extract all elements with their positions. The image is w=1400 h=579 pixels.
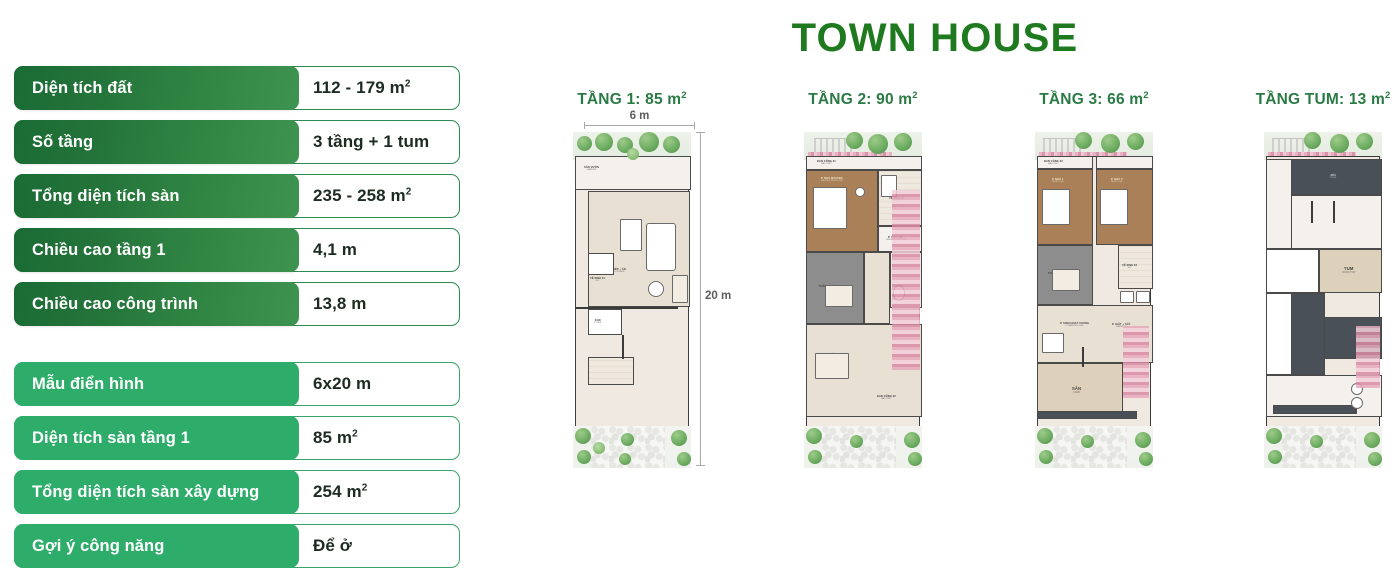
building-footprint: MÁIROOF TUMROOFTOP <box>1266 156 1380 442</box>
floor-plan-2: BAN CÔNG 01BALCONY P. NGỦ MASTERMASTER B… <box>800 130 926 468</box>
spec-label-pill: Tổng diện tích sàn <box>14 174 299 218</box>
spec-value: 13,8 m <box>313 294 367 314</box>
spec-label-pill: Chiều cao công trình <box>14 282 299 326</box>
spec-row: 3 tầng + 1 tum Số tầng <box>14 120 460 164</box>
spec-label: Diện tích sàn tầng 1 <box>32 429 190 448</box>
seating <box>1052 269 1080 291</box>
wall-segment <box>1082 347 1084 367</box>
tree-icon <box>868 134 888 154</box>
wall-segment <box>1333 201 1335 223</box>
wall-segment <box>576 307 678 309</box>
spec-row: 13,8 m Chiều cao công trình <box>14 282 460 326</box>
coffee-table <box>648 281 664 297</box>
sofa <box>815 353 849 379</box>
dimension-cap-left <box>584 121 585 129</box>
tree-icon <box>904 432 920 448</box>
spec-label: Gợi ý công năng <box>32 537 164 556</box>
room-label: TUMROOFTOP <box>1342 266 1355 274</box>
tree-icon <box>1356 133 1373 150</box>
roof-slab-top: MÁIROOF <box>1291 159 1382 195</box>
room-balcony-3b <box>1096 156 1153 169</box>
tree-icon <box>806 428 822 444</box>
tree-icon <box>894 133 912 151</box>
dimension-width-label: 6 m <box>584 110 695 122</box>
room-label: BAN CÔNG 01BALCONY <box>817 160 836 166</box>
spec-row: 6x20 m Mẫu điển hình <box>14 362 460 406</box>
open-terrace <box>1291 195 1382 249</box>
spec-value: 4,1 m <box>313 240 357 260</box>
spec-row: Để ở Gợi ý công năng <box>14 524 460 568</box>
unit-superscript: 2 <box>1385 90 1390 101</box>
dimension-line <box>584 125 695 126</box>
dining-table <box>646 223 676 271</box>
spec-label: Chiều cao công trình <box>32 295 198 314</box>
spec-value: 3 tầng + 1 tum <box>313 132 429 152</box>
room-balcony-3a: BAN CÔNG 03BALCONY <box>1037 156 1093 169</box>
unit-superscript: 2 <box>681 90 686 101</box>
dimension-cap-top <box>696 132 705 133</box>
stairs <box>864 252 890 324</box>
floor-plans-area: TOWN HOUSE TẦNG 1: 85 m2 6 m 20 m <box>470 0 1400 579</box>
room-wc-03: VỆ SINH 03WC <box>1118 245 1153 289</box>
side-table <box>855 187 865 197</box>
sofa <box>1042 333 1064 353</box>
room-yard: SÂNYARD <box>1037 363 1123 417</box>
spec-value: 235 - 258 m2 <box>313 186 411 206</box>
room-label: SÂN VƯỜNGARDEN <box>584 166 599 172</box>
roof-slab-mid <box>1291 293 1325 375</box>
room-label: P. NGỦ 2BEDROOM <box>1111 178 1123 184</box>
dimension-cap-bottom <box>696 465 705 466</box>
spec-value: 112 - 179 m2 <box>313 78 411 98</box>
flower-band <box>1123 326 1149 398</box>
tree-icon <box>850 435 863 448</box>
spec-label: Chiều cao tầng 1 <box>32 241 166 260</box>
basin <box>1120 291 1134 303</box>
unit-superscript: 2 <box>1143 90 1148 101</box>
spec-group-typical-unit: 6x20 m Mẫu điển hình 85 m2 Diện tích sàn… <box>14 362 460 568</box>
tree-icon <box>1135 432 1151 448</box>
unit-superscript: 2 <box>405 78 411 89</box>
tree-icon <box>1330 134 1349 153</box>
floor-plan-column-3: TẦNG 3: 66 m2 BAN CÔNG 03BALCONY <box>978 90 1210 468</box>
bed <box>1100 189 1128 225</box>
shrub-icon <box>593 442 605 454</box>
wall-segment <box>622 335 624 359</box>
floor-plan-artwork: BAN CÔNG 01BALCONY P. NGỦ MASTERMASTER B… <box>800 130 926 468</box>
spec-label: Tổng diện tích sàn xây dựng <box>32 483 259 502</box>
floor-plan-artwork: BAN CÔNG 03BALCONY P. NGỦ 1BEDROOM P. NG… <box>1031 130 1157 468</box>
room-label: SÂNYARD <box>1072 386 1081 394</box>
spec-label-pill: Gợi ý công năng <box>14 524 299 568</box>
spec-label-pill: Diện tích đất <box>14 66 299 110</box>
spec-label: Mẫu điển hình <box>32 375 144 394</box>
unit-superscript: 2 <box>912 90 917 101</box>
flower-band <box>1356 326 1380 388</box>
floor-plan-artwork: SÂN VƯỜNGARDEN BẾP + ĂNKITCHEN VỆ SINH 0… <box>569 130 695 468</box>
room-label: VỆ SINH 03WC <box>1122 264 1137 270</box>
room-label: KHOSTORE <box>594 319 602 325</box>
dimension-line <box>700 132 701 466</box>
room-label: MÁIROOF <box>1330 174 1336 180</box>
floor-plan-column-4: TẦNG TUM: 13 m2 MÁIROOF <box>1207 90 1400 468</box>
spec-label-pill: Số tầng <box>14 120 299 164</box>
tree-icon <box>808 450 822 464</box>
spec-value: Để ở <box>313 536 352 556</box>
tree-icon <box>663 136 680 153</box>
tree-icon <box>619 453 631 465</box>
floor-plan-4: MÁIROOF TUMROOFTOP <box>1260 130 1386 468</box>
tree-icon <box>577 450 591 464</box>
tree-icon <box>1127 133 1144 150</box>
room-label: GARAGARAGE <box>637 360 650 368</box>
tree-icon <box>1364 432 1380 448</box>
spec-row: 112 - 179 m2 Diện tích đất <box>14 66 460 110</box>
sofa <box>672 275 688 303</box>
tree-icon <box>1139 452 1153 466</box>
dimension-height-label: 20 m <box>705 290 731 302</box>
room-label: P. SINH HOẠT CHUNGCOMMON ROOM <box>1060 322 1089 328</box>
room-label: P. NGỦ 1BEDROOM <box>1052 178 1064 184</box>
room-label: BẾP + ĂNKITCHEN <box>613 268 626 274</box>
building-footprint: BAN CÔNG 03BALCONY P. NGỦ 1BEDROOM P. NG… <box>1037 156 1151 442</box>
dimension-width: 6 m <box>584 113 695 129</box>
room-tum: TUMROOFTOP <box>1319 249 1382 293</box>
open-area-left <box>1266 159 1292 249</box>
room-label: VỆ SINH 01WC <box>590 277 605 283</box>
floor-plan-column-1: TẦNG 1: 85 m2 6 m 20 m <box>516 90 748 468</box>
room-garden: SÂN VƯỜNGARDEN <box>575 156 691 190</box>
kitchen-counter <box>620 219 642 251</box>
flower-band <box>892 190 920 370</box>
seating <box>825 285 853 307</box>
tree-icon <box>639 132 659 152</box>
spec-row: 4,1 m Chiều cao tầng 1 <box>14 228 460 272</box>
floor-plan-3: BAN CÔNG 03BALCONY P. NGỦ 1BEDROOM P. NG… <box>1031 130 1157 468</box>
shrub-icon <box>627 148 639 160</box>
tree-icon <box>1081 435 1094 448</box>
bed <box>813 187 847 229</box>
spec-label: Tổng diện tích sàn <box>32 187 180 206</box>
spec-group-primary: 112 - 179 m2 Diện tích đất 3 tầng + 1 tu… <box>14 66 460 326</box>
spec-row: 85 m2 Diện tích sàn tầng 1 <box>14 416 460 460</box>
wall-segment <box>1311 201 1313 223</box>
tree-icon <box>1266 428 1282 444</box>
tree-icon <box>1101 134 1120 153</box>
dimension-height: 20 m <box>696 132 726 466</box>
tree-icon <box>575 428 591 444</box>
unit-superscript: 2 <box>406 186 412 197</box>
spec-label-pill: Diện tích sàn tầng 1 <box>14 416 299 460</box>
spec-row: 254 m2 Tổng diện tích sàn xây dựng <box>14 470 460 514</box>
dimension-cap-right <box>694 121 695 129</box>
tree-icon <box>671 430 687 446</box>
tree-icon <box>1310 435 1323 448</box>
bed <box>1042 189 1070 225</box>
spec-label: Diện tích đất <box>32 79 132 98</box>
building-footprint: SÂN VƯỜNGARDEN BẾP + ĂNKITCHEN VỆ SINH 0… <box>575 156 689 442</box>
spec-row: 235 - 258 m2 Tổng diện tích sàn <box>14 174 460 218</box>
specifications-panel: 112 - 179 m2 Diện tích đất 3 tầng + 1 tu… <box>14 66 460 568</box>
open-area-2 <box>1266 249 1319 293</box>
floor-plan-caption: TẦNG 1: 85 m2 <box>516 90 748 112</box>
spec-value: 85 m2 <box>313 428 358 448</box>
tree-icon <box>908 452 922 466</box>
tree-icon <box>1368 452 1382 466</box>
spec-label-pill: Tổng diện tích sàn xây dựng <box>14 470 299 514</box>
page-title: TOWN HOUSE <box>470 16 1400 61</box>
parapet <box>1273 405 1357 414</box>
floor-plan-1: 6 m 20 m SÂN VƯỜNGARDEN <box>569 130 695 468</box>
tree-icon <box>1304 132 1321 149</box>
planter <box>1351 397 1363 409</box>
spec-label-pill: Mẫu điển hình <box>14 362 299 406</box>
tree-icon <box>595 133 613 151</box>
room-store: KHOSTORE <box>588 309 622 335</box>
tree-icon <box>1075 132 1092 149</box>
tree-icon <box>1268 450 1282 464</box>
tree-icon <box>677 452 691 466</box>
floor-plan-caption: TẦNG 2: 90 m2 <box>747 90 979 112</box>
spec-value: 254 m2 <box>313 482 367 502</box>
room-label: BAN CÔNG 03BALCONY <box>1044 160 1063 166</box>
garage-paving <box>588 357 634 385</box>
basin <box>1136 291 1150 303</box>
floor-plan-caption: TẦNG 3: 66 m2 <box>978 90 1210 112</box>
unit-superscript: 2 <box>362 482 368 493</box>
open-area-3 <box>1266 293 1292 375</box>
townhouse-spec-sheet: 112 - 179 m2 Diện tích đất 3 tầng + 1 tu… <box>0 0 1400 579</box>
tree-icon <box>846 132 863 149</box>
room-balcony-1: BAN CÔNG 01BALCONY <box>806 156 922 170</box>
spec-label: Số tầng <box>32 133 93 152</box>
room-label: BAN CÔNG 02BALCONY <box>877 395 896 401</box>
floor-plan-caption: TẦNG TUM: 13 m2 <box>1207 90 1400 112</box>
unit-superscript: 2 <box>352 428 358 439</box>
tree-icon <box>1037 428 1053 444</box>
floor-plan-artwork: MÁIROOF TUMROOFTOP <box>1260 130 1386 468</box>
spec-value: 6x20 m <box>313 374 371 394</box>
spec-label-pill: Chiều cao tầng 1 <box>14 228 299 272</box>
room-wc <box>588 253 614 275</box>
tree-icon <box>577 136 592 151</box>
parapet <box>1037 411 1137 419</box>
tree-icon <box>621 433 634 446</box>
tree-icon <box>1039 450 1053 464</box>
floor-plan-column-2: TẦNG 2: 90 m2 BAN CÔNG 01BALCONY <box>747 90 979 468</box>
room-label: P. NGỦ MASTERMASTER BEDROOM <box>821 177 843 183</box>
